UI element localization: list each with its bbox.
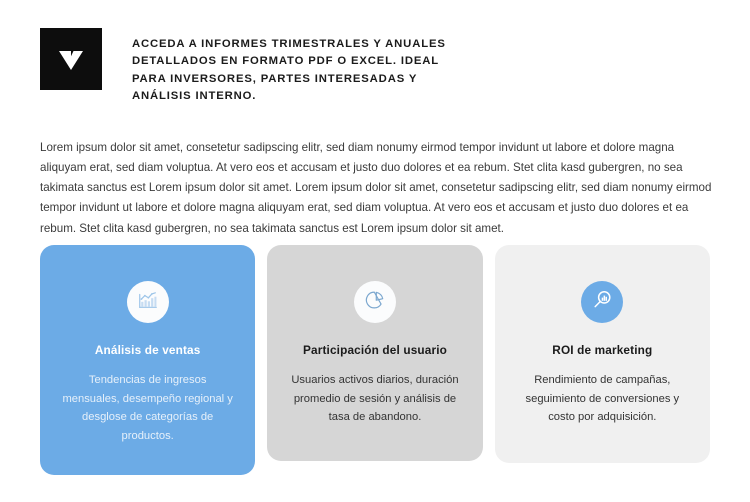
header: Acceda a informes trimestrales y anuales… [40, 28, 712, 113]
card-title: Participación del usuario [289, 343, 460, 357]
card-icon-badge [127, 281, 169, 323]
card-description: Tendencias de ingresos mensuales, desemp… [62, 371, 233, 445]
card-description: Rendimiento de campañas, seguimiento de … [517, 371, 688, 427]
page-title: Acceda a informes trimestrales y anuales… [132, 36, 462, 106]
pie-chart-icon [364, 289, 386, 316]
page-root: Acceda a informes trimestrales y anuales… [0, 0, 750, 502]
feature-card-sales-analysis[interactable]: Análisis de ventas Tendencias de ingreso… [40, 245, 255, 475]
card-title: Análisis de ventas [62, 343, 233, 357]
feature-card-list: Análisis de ventas Tendencias de ingreso… [40, 245, 710, 475]
logo [40, 28, 102, 90]
magnifier-chart-icon [590, 288, 614, 317]
brand-v-mark-icon [54, 42, 88, 76]
card-icon-badge [354, 281, 396, 323]
card-description: Usuarios activos diarios, duración prome… [289, 371, 460, 427]
bar-chart-trend-icon [137, 289, 159, 316]
feature-card-user-engagement[interactable]: Participación del usuario Usuarios activ… [267, 245, 482, 461]
body-paragraph: Lorem ipsum dolor sit amet, consetetur s… [40, 138, 712, 239]
feature-card-marketing-roi[interactable]: ROI de marketing Rendimiento de campañas… [495, 245, 710, 463]
card-title: ROI de marketing [517, 343, 688, 357]
card-icon-badge [581, 281, 623, 323]
